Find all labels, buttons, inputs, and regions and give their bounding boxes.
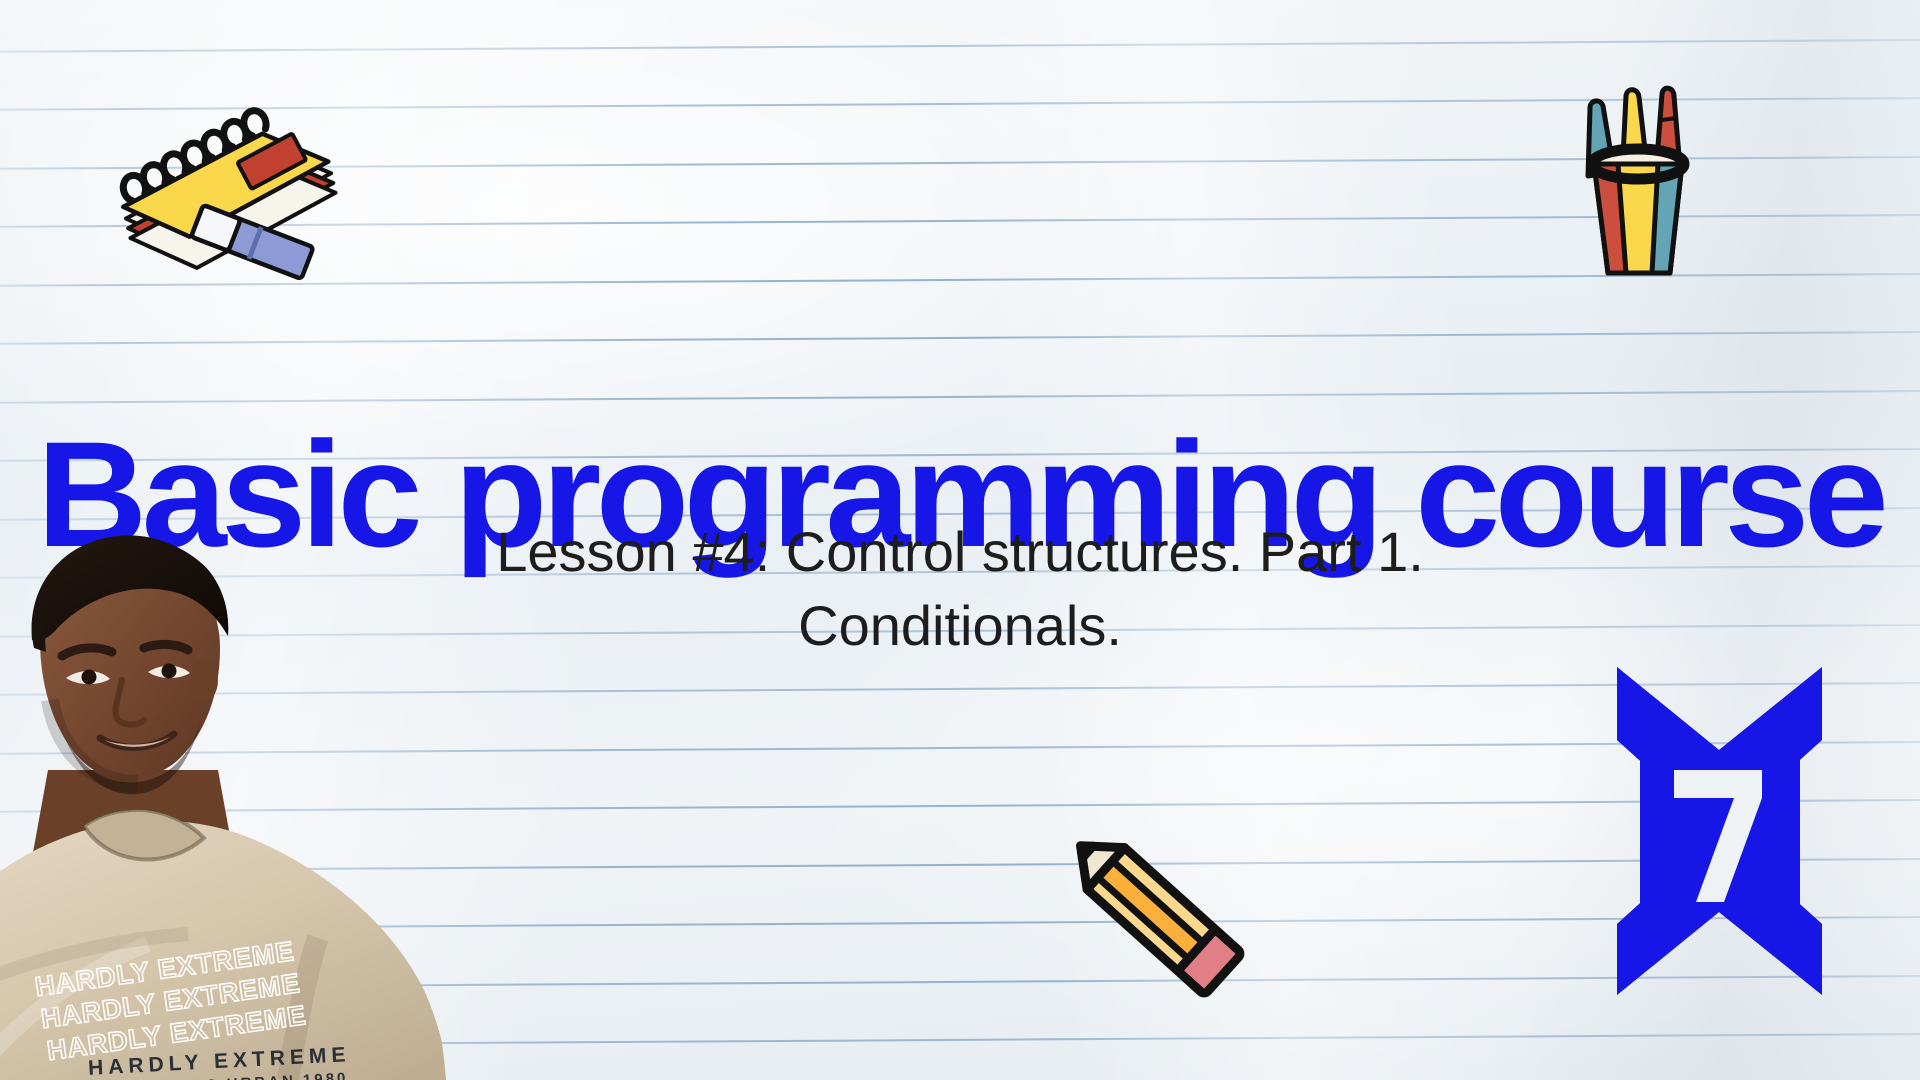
notebook-icon [88, 88, 358, 293]
pencil-icon [1050, 820, 1250, 1010]
presenter-photo: HARDLY EXTREME HARDLY EXTREME HARDLY EXT… [0, 520, 588, 1080]
slide-root: 7 Basic programming course Lesson #4: Co… [0, 0, 1920, 1080]
pencil-cup-icon [1570, 68, 1710, 283]
seven-logo: 7 [1612, 662, 1827, 1000]
